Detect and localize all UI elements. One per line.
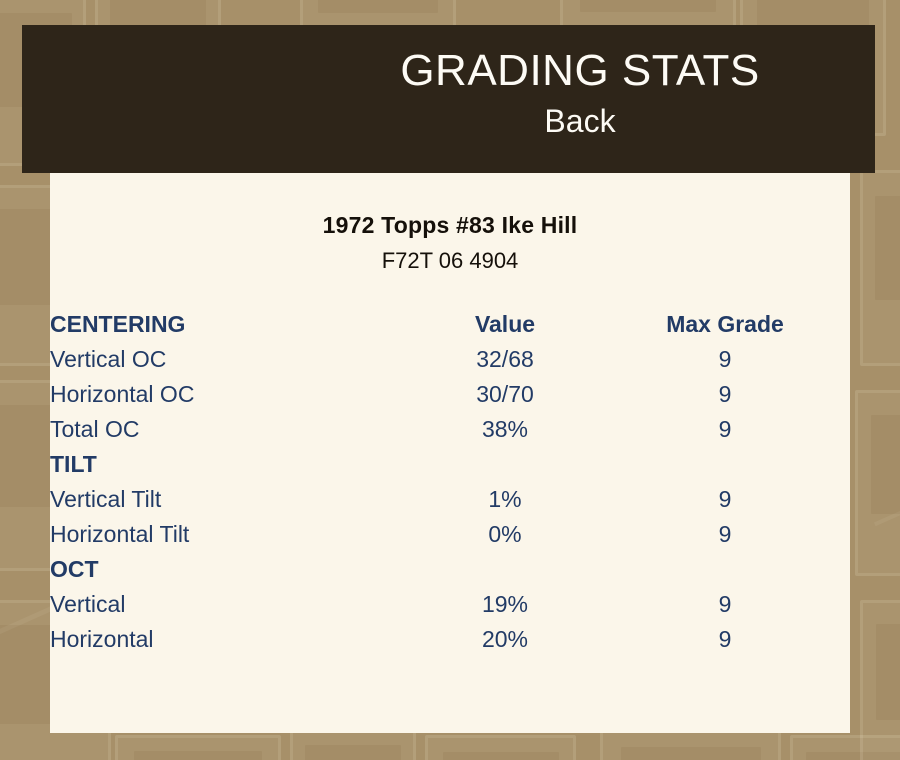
table-row: Horizontal OC30/709 bbox=[50, 377, 850, 412]
column-header-max-grade: Max Grade bbox=[600, 307, 850, 342]
content-panel: 1972 Topps #83 Ike Hill F72T 06 4904 CEN… bbox=[50, 173, 850, 733]
cell-label: Vertical OC bbox=[50, 342, 410, 377]
table-row: Vertical OC32/689 bbox=[50, 342, 850, 377]
section-header-row: OCT bbox=[50, 552, 850, 587]
cell-grade: 9 bbox=[600, 412, 850, 447]
cell-label: Total OC bbox=[50, 412, 410, 447]
header-titles: GRADING STATS Back bbox=[300, 45, 860, 141]
table-row: Horizontal Tilt0%9 bbox=[50, 517, 850, 552]
cell-grade: 9 bbox=[600, 587, 850, 622]
cell-label: Horizontal bbox=[50, 622, 410, 657]
table-header-row: CENTERING Value Max Grade bbox=[50, 307, 850, 342]
cell-value: 1% bbox=[410, 482, 600, 517]
table-row: Vertical19%9 bbox=[50, 587, 850, 622]
cell-grade: 9 bbox=[600, 622, 850, 657]
table-row: Vertical Tilt1%9 bbox=[50, 482, 850, 517]
section-header-label: TILT bbox=[50, 447, 850, 482]
cell-label: Horizontal OC bbox=[50, 377, 410, 412]
cell-grade: 9 bbox=[600, 482, 850, 517]
card-title: 1972 Topps #83 Ike Hill bbox=[50, 212, 850, 239]
table-row: Total OC38%9 bbox=[50, 412, 850, 447]
column-header-section: CENTERING bbox=[50, 307, 410, 342]
cell-label: Vertical Tilt bbox=[50, 482, 410, 517]
cell-value: 32/68 bbox=[410, 342, 600, 377]
cell-value: 0% bbox=[410, 517, 600, 552]
cell-value: 20% bbox=[410, 622, 600, 657]
column-header-value: Value bbox=[410, 307, 600, 342]
cell-grade: 9 bbox=[600, 517, 850, 552]
page-subtitle: Back bbox=[300, 101, 860, 141]
section-header-row: TILT bbox=[50, 447, 850, 482]
table-body: Vertical OC32/689Horizontal OC30/709Tota… bbox=[50, 342, 850, 657]
cell-value: 30/70 bbox=[410, 377, 600, 412]
cell-label: Vertical bbox=[50, 587, 410, 622]
card-serial-number: F72T 06 4904 bbox=[50, 248, 850, 274]
cell-value: 38% bbox=[410, 412, 600, 447]
section-header-label: OCT bbox=[50, 552, 850, 587]
cell-value: 19% bbox=[410, 587, 600, 622]
table-header: CENTERING Value Max Grade bbox=[50, 307, 850, 342]
cell-grade: 9 bbox=[600, 342, 850, 377]
table-row: Horizontal20%9 bbox=[50, 622, 850, 657]
grading-stats-table: CENTERING Value Max Grade Vertical OC32/… bbox=[50, 307, 850, 657]
cell-label: Horizontal Tilt bbox=[50, 517, 410, 552]
page-title: GRADING STATS bbox=[300, 45, 860, 97]
cell-grade: 9 bbox=[600, 377, 850, 412]
